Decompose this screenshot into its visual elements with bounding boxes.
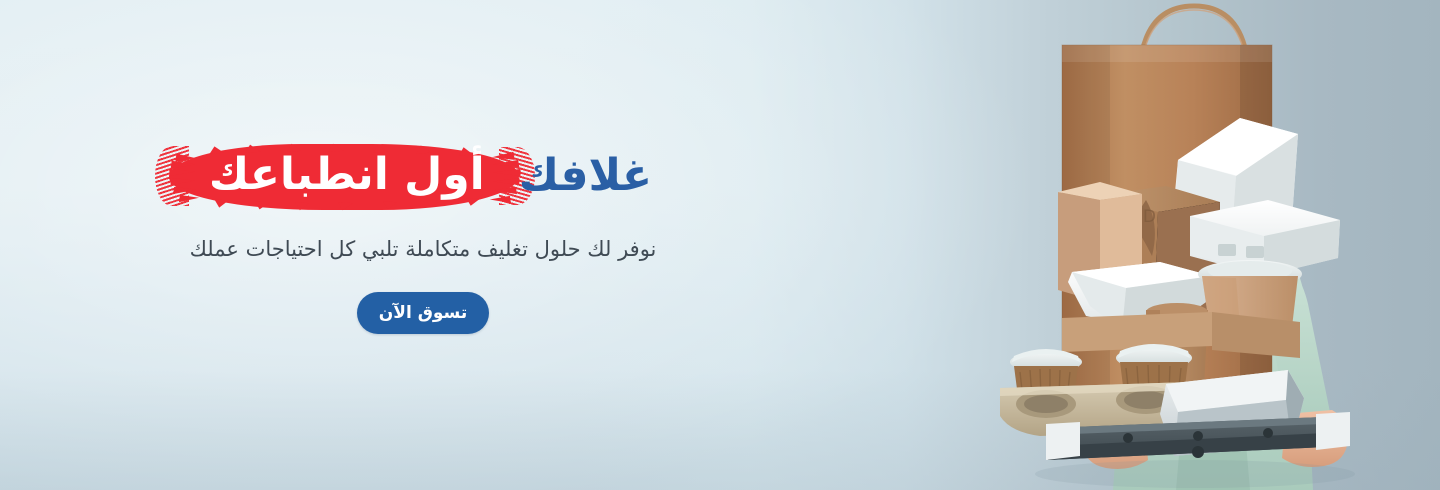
packaging-stack-illustration: D (950, 0, 1440, 490)
hero-copy: غلافك (150, 140, 710, 334)
hero-headline: غلافك (150, 140, 710, 212)
hero-cta-row: تسوق الآن (150, 292, 710, 334)
headline-blue-word: غلافك (509, 154, 652, 198)
shop-now-button[interactable]: تسوق الآن (357, 292, 489, 334)
hero-photo: D (950, 0, 1440, 490)
hero-banner: D (0, 0, 1440, 490)
svg-text:D: D (1143, 207, 1156, 227)
headline-highlight: أول انطباعك (187, 149, 507, 203)
headline-highlight-text: أول انطباعك (209, 149, 485, 200)
hero-subtitle: نوفر لك حلول تغليف متكاملة تلبي كل احتيا… (150, 234, 710, 266)
